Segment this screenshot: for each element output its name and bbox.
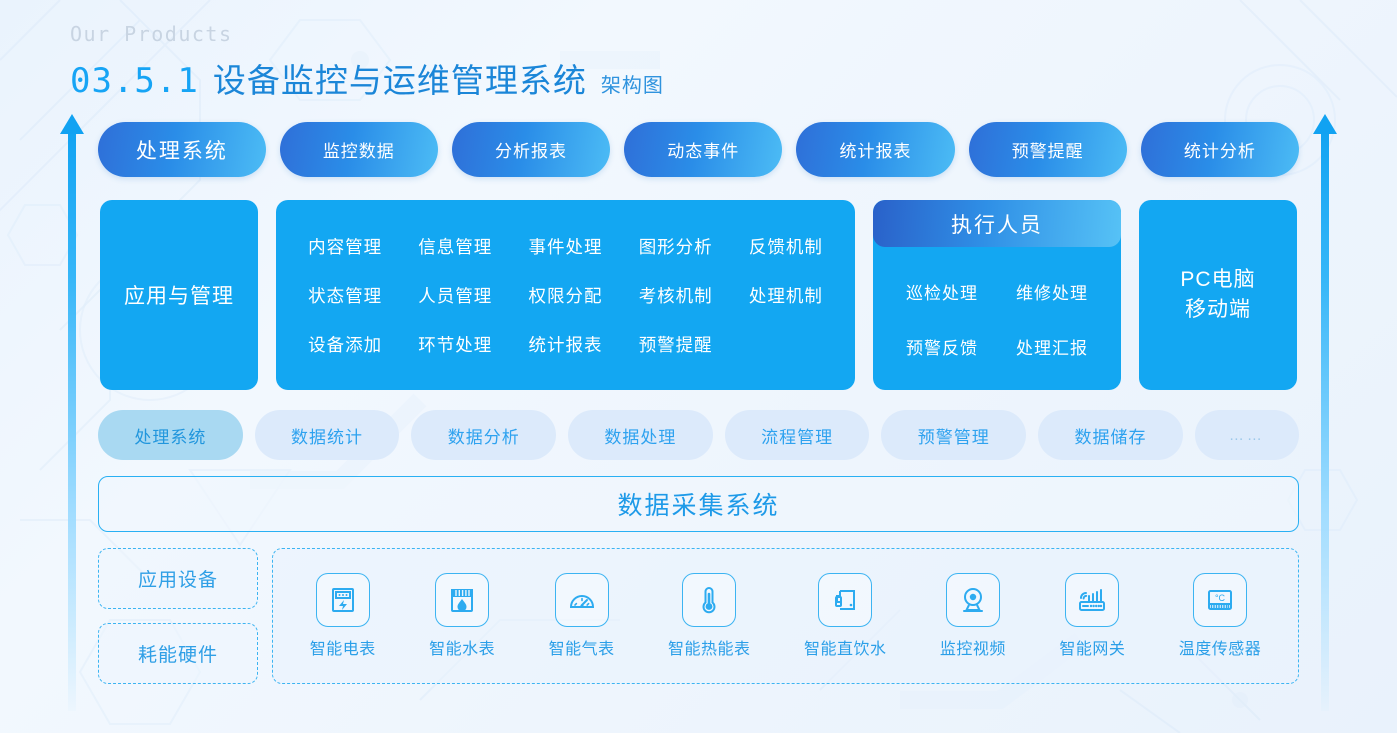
page-subtitle: 架构图 [601,69,664,98]
executor-item-3[interactable]: 处理汇报 [997,334,1107,359]
device-label-heat-meter: 智能热能表 [668,635,751,659]
feature-item-6[interactable]: 人员管理 [404,283,506,308]
water-meter-icon [435,573,489,627]
device-label-electric-meter: 智能电表 [310,635,376,659]
feature-item-10[interactable]: 设备添加 [294,332,396,357]
data-collection-band[interactable]: 数据采集系统 [98,476,1299,532]
device-list: 智能电表 智能水表 智能气表 [272,548,1299,684]
cctv-camera-icon [946,573,1000,627]
light-pill-5[interactable]: 预警管理 [881,410,1026,460]
device-label-gateway: 智能网关 [1059,635,1125,659]
light-pill-label-3: 数据处理 [604,423,676,448]
device-item-cctv[interactable]: 监控视频 [940,573,1006,659]
light-pill-0[interactable]: 处理系统 [98,410,243,460]
application-management-label: 应用与管理 [124,280,234,310]
feature-item-9[interactable]: 处理机制 [735,283,837,308]
executor-block: 执行人员 巡检处理 维修处理 预警反馈 处理汇报 [873,200,1121,390]
data-collection-label: 数据采集系统 [617,486,779,522]
tag-application-device-label: 应用设备 [138,565,218,592]
top-pill-6[interactable]: 统计分析 [1141,122,1299,177]
device-item-water-meter[interactable]: 智能水表 [429,573,495,659]
feature-item-3[interactable]: 图形分析 [625,234,727,259]
executor-item-1[interactable]: 维修处理 [997,279,1107,304]
arrow-left-head [60,114,84,134]
device-item-water-dispenser[interactable]: 智能直饮水 [804,573,887,659]
light-pill-label-more: …… [1229,427,1265,444]
up-arrow-right [1313,114,1337,711]
light-pill-3[interactable]: 数据处理 [568,410,713,460]
page-title: 设备监控与运维管理系统 [213,54,587,102]
feature-grid-block: 内容管理 信息管理 事件处理 图形分析 反馈机制 状态管理 人员管理 权限分配 … [276,200,855,390]
client-platform-line-1: PC电脑 [1180,265,1255,295]
feature-item-8[interactable]: 考核机制 [625,283,727,308]
feature-item-4[interactable]: 反馈机制 [735,234,837,259]
device-item-gas-meter[interactable]: 智能气表 [549,573,615,659]
executor-item-0[interactable]: 巡检处理 [887,279,997,304]
top-pill-4[interactable]: 统计报表 [796,122,954,177]
top-pill-row: 处理系统 监控数据 分析报表 动态事件 统计报表 预警提醒 统计分析 [98,122,1299,177]
light-pill-label-4: 流程管理 [761,423,833,448]
arrow-right-shaft [1321,130,1329,711]
executor-title: 执行人员 [951,209,1043,239]
page-header: Our Products 03.5.1 设备监控与运维管理系统 架构图 [70,24,664,102]
device-item-gateway[interactable]: 智能网关 [1059,573,1125,659]
light-pill-more[interactable]: …… [1195,410,1299,460]
light-pill-label-0: 处理系统 [134,423,206,448]
gas-meter-icon [555,573,609,627]
middle-block-row: 应用与管理 内容管理 信息管理 事件处理 图形分析 反馈机制 状态管理 人员管理… [100,200,1297,390]
arrow-left-shaft [68,130,76,711]
light-pill-row: 处理系统 数据统计 数据分析 数据处理 流程管理 预警管理 数据储存 …… [98,410,1299,460]
top-pill-1[interactable]: 监控数据 [280,122,438,177]
light-pill-label-1: 数据统计 [291,423,363,448]
water-dispenser-icon [818,573,872,627]
top-pill-5[interactable]: 预警提醒 [969,122,1127,177]
feature-item-12[interactable]: 统计报表 [514,332,616,357]
client-platform-line-2: 移动端 [1185,295,1251,325]
arrow-right-head [1313,114,1337,134]
electric-meter-icon [316,573,370,627]
feature-item-0[interactable]: 内容管理 [294,234,396,259]
client-platform-block[interactable]: PC电脑 移动端 [1139,200,1297,390]
executor-header[interactable]: 执行人员 [873,200,1121,247]
light-pill-6[interactable]: 数据储存 [1038,410,1183,460]
light-pill-label-6: 数据储存 [1074,423,1146,448]
feature-item-11[interactable]: 环节处理 [404,332,506,357]
thermometer-icon [682,573,736,627]
device-item-temp-sensor[interactable]: °C 温度传感器 [1179,573,1262,659]
light-pill-1[interactable]: 数据统计 [255,410,400,460]
light-pill-4[interactable]: 流程管理 [725,410,870,460]
top-pill-label-6: 统计分析 [1184,137,1256,162]
title-row: 03.5.1 设备监控与运维管理系统 架构图 [70,54,664,102]
top-pill-2[interactable]: 分析报表 [452,122,610,177]
feature-item-1[interactable]: 信息管理 [404,234,506,259]
feature-item-14 [735,332,837,357]
top-pill-3[interactable]: 动态事件 [624,122,782,177]
light-pill-label-5: 预警管理 [918,423,990,448]
tag-energy-hardware-label: 耗能硬件 [138,640,218,667]
feature-item-2[interactable]: 事件处理 [514,234,616,259]
device-label-water-meter: 智能水表 [429,635,495,659]
feature-grid: 内容管理 信息管理 事件处理 图形分析 反馈机制 状态管理 人员管理 权限分配 … [294,234,837,357]
top-pill-label-0: 处理系统 [136,135,228,165]
tag-energy-hardware[interactable]: 耗能硬件 [98,623,258,684]
device-label-water-dispenser: 智能直饮水 [804,635,887,659]
gateway-router-icon [1065,573,1119,627]
light-pill-2[interactable]: 数据分析 [411,410,556,460]
section-number: 03.5.1 [70,61,199,101]
executor-grid: 巡检处理 维修处理 预警反馈 处理汇报 [873,247,1121,390]
up-arrow-left [60,114,84,711]
top-pill-label-2: 分析报表 [495,137,567,162]
top-pill-label-1: 监控数据 [323,137,395,162]
device-item-electric-meter[interactable]: 智能电表 [310,573,376,659]
tag-application-device[interactable]: 应用设备 [98,548,258,609]
device-label-cctv: 监控视频 [940,635,1006,659]
device-item-heat-meter[interactable]: 智能热能表 [668,573,751,659]
light-pill-label-2: 数据分析 [448,423,520,448]
eyebrow-text: Our Products [70,24,664,44]
top-pill-label-3: 动态事件 [667,137,739,162]
feature-item-5[interactable]: 状态管理 [294,283,396,308]
feature-item-7[interactable]: 权限分配 [514,283,616,308]
top-pill-label-4: 统计报表 [839,137,911,162]
temperature-sensor-icon: °C [1193,573,1247,627]
device-tag-column: 应用设备 耗能硬件 [98,548,258,684]
feature-item-13[interactable]: 预警提醒 [625,332,727,357]
top-pill-label-5: 预警提醒 [1012,137,1084,162]
device-label-temp-sensor: 温度传感器 [1179,635,1262,659]
application-management-block[interactable]: 应用与管理 [100,200,258,390]
top-pill-0[interactable]: 处理系统 [98,122,266,177]
device-label-gas-meter: 智能气表 [549,635,615,659]
svg-text:°C: °C [1215,593,1226,603]
executor-item-2[interactable]: 预警反馈 [887,334,997,359]
bottom-device-row: 应用设备 耗能硬件 智能电表 [98,548,1299,684]
